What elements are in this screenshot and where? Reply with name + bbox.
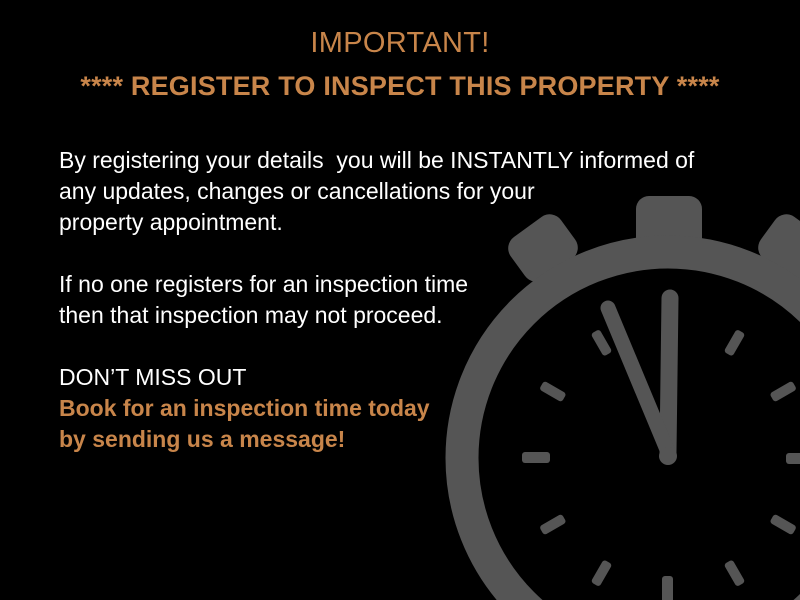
page-subtitle: **** REGISTER TO INSPECT THIS PROPERTY *… bbox=[0, 70, 800, 102]
slide-canvas: IMPORTANT! **** REGISTER TO INSPECT THIS… bbox=[0, 0, 800, 600]
cta-book-inspection: Book for an inspection time today bbox=[59, 393, 719, 424]
page-title: IMPORTANT! bbox=[0, 26, 800, 60]
paragraph-call-to-action: DON’T MISS OUT Book for an inspection ti… bbox=[59, 362, 719, 455]
paragraph1-line2: any updates, changes or cancellations fo… bbox=[59, 176, 719, 207]
paragraph-no-registration-warning: If no one registers for an inspection ti… bbox=[59, 269, 719, 331]
heading-block: IMPORTANT! **** REGISTER TO INSPECT THIS… bbox=[0, 26, 800, 102]
paragraph2-line1: If no one registers for an inspection ti… bbox=[59, 269, 719, 300]
stopwatch-right-lug-icon bbox=[753, 209, 800, 288]
cta-dont-miss-out: DON’T MISS OUT bbox=[59, 362, 719, 393]
paragraph1-line1: By registering your details you will be … bbox=[59, 145, 719, 176]
paragraph1-line3: property appointment. bbox=[59, 207, 719, 238]
paragraph-registering-benefits: By registering your details you will be … bbox=[59, 145, 719, 238]
cta-send-message: by sending us a message! bbox=[59, 424, 719, 455]
paragraph2-line2: then that inspection may not proceed. bbox=[59, 300, 719, 331]
body-copy: By registering your details you will be … bbox=[59, 145, 719, 455]
